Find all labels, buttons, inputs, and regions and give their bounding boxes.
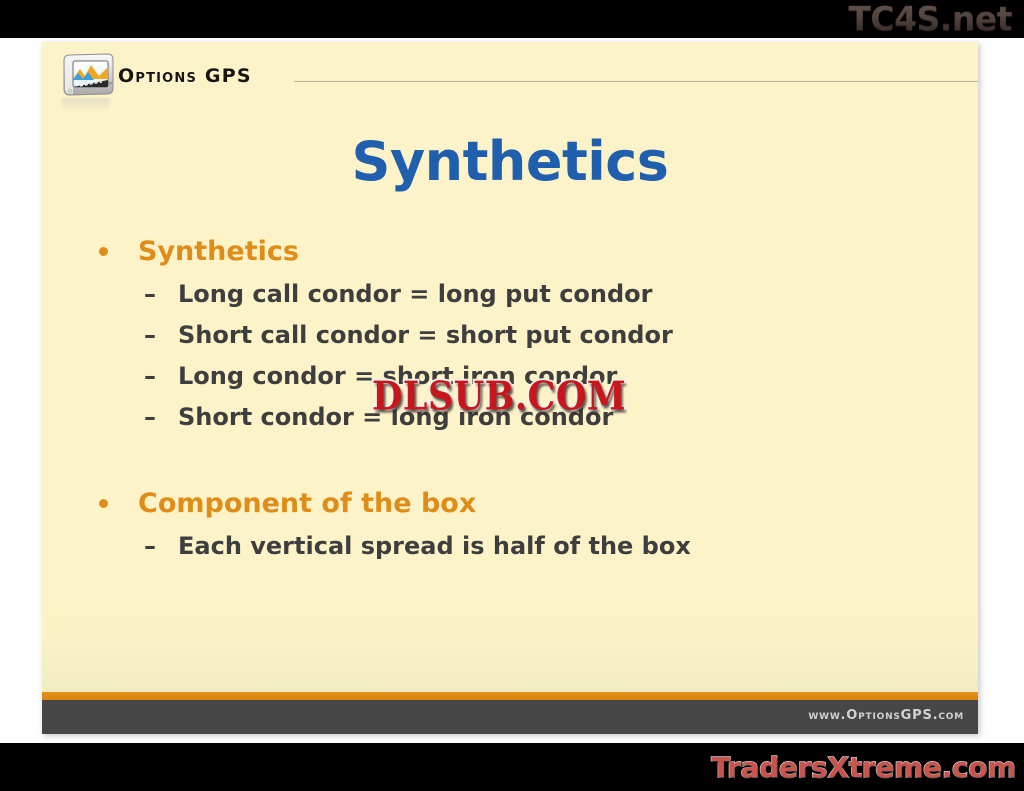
presentation-slide: Options GPS Synthetics Synthetics – Long… — [42, 42, 978, 734]
logo-reflection — [62, 98, 110, 112]
bullet-level1-label: Synthetics — [138, 236, 299, 267]
tc4s-branding-watermark: TC4S.net — [848, 1, 1012, 37]
dash-icon: – — [144, 356, 156, 397]
bullet-level2: – Short call condor = short put condor — [92, 315, 942, 356]
bullet-dot-icon — [99, 499, 108, 508]
bullet-group: Component of the box – Each vertical spr… — [92, 482, 942, 567]
bullet-level2-label: Short call condor = short put condor — [178, 321, 673, 349]
header-divider — [294, 81, 978, 82]
dlsub-watermark: DLSUB.COM — [372, 374, 626, 420]
dash-icon: – — [144, 274, 156, 315]
bullet-dot-icon — [99, 247, 108, 256]
bullet-level2: – Long call condor = long put condor — [92, 274, 942, 315]
slide-title: Synthetics — [42, 130, 978, 193]
slide-header: Options GPS — [42, 42, 978, 104]
dash-icon: – — [144, 397, 156, 438]
bullet-level1: Synthetics — [92, 230, 942, 274]
brand-title: Options GPS — [118, 65, 252, 87]
bullet-level2-label: Each vertical spread is half of the box — [178, 532, 691, 560]
bullet-level2: – Each vertical spread is half of the bo… — [92, 526, 942, 567]
dash-icon: – — [144, 315, 156, 356]
body-spacer — [92, 444, 942, 482]
bullet-level2-label: Long call condor = long put condor — [178, 280, 653, 308]
bullet-level1: Component of the box — [92, 482, 942, 526]
dash-icon: – — [144, 526, 156, 567]
footer-orange-strip — [42, 692, 978, 700]
tradersxtreme-branding-watermark: TradersXtreme.com — [711, 749, 1016, 787]
slide-footer-bar: www.OptionsGPS.com — [42, 700, 978, 734]
bullet-level1-label: Component of the box — [138, 488, 476, 519]
footer-website-url: www.OptionsGPS.com — [808, 708, 964, 723]
gps-device-icon — [58, 52, 116, 98]
